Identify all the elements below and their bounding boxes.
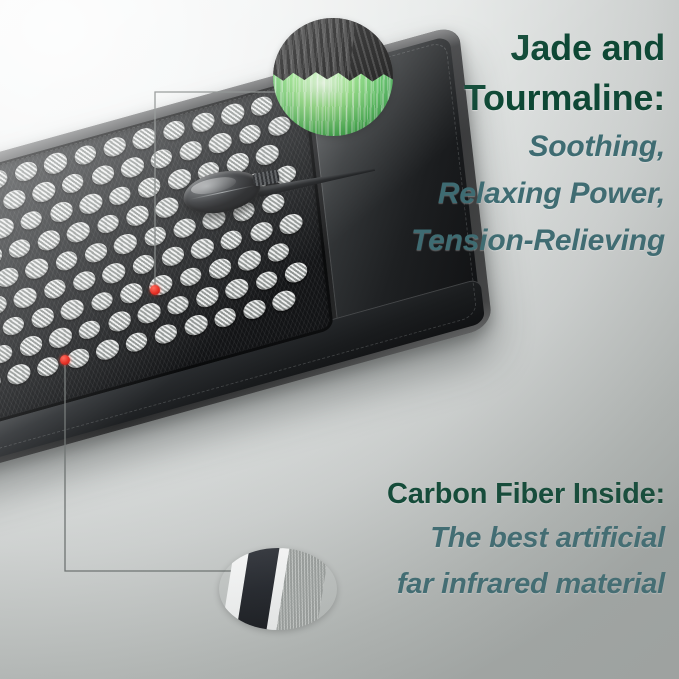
jade-tourmaline-inset (273, 18, 393, 136)
product-infographic: Jade and Tourmaline: Soothing, Relaxing … (0, 0, 679, 679)
top-sub-line3: Tension-Relieving (411, 217, 665, 264)
bottom-sub-line1: The best artificial (387, 515, 665, 561)
bottom-sub-line2: far infrared material (387, 561, 665, 607)
mat-stitching (0, 40, 477, 468)
top-text-block: Jade and Tourmaline: Soothing, Relaxing … (411, 23, 665, 264)
top-sub-line1: Soothing, (411, 123, 665, 170)
marker-dot-top (150, 285, 160, 295)
carbon-fiber-inset (219, 548, 337, 630)
top-heading-line2: Tourmaline: (411, 73, 665, 123)
bottom-heading-line1: Carbon Fiber Inside: (387, 473, 665, 515)
top-heading-line1: Jade and (411, 23, 665, 73)
bottom-text-block: Carbon Fiber Inside: The best artificial… (387, 473, 665, 607)
marker-dot-bottom (60, 355, 70, 365)
top-sub-line2: Relaxing Power, (411, 170, 665, 217)
